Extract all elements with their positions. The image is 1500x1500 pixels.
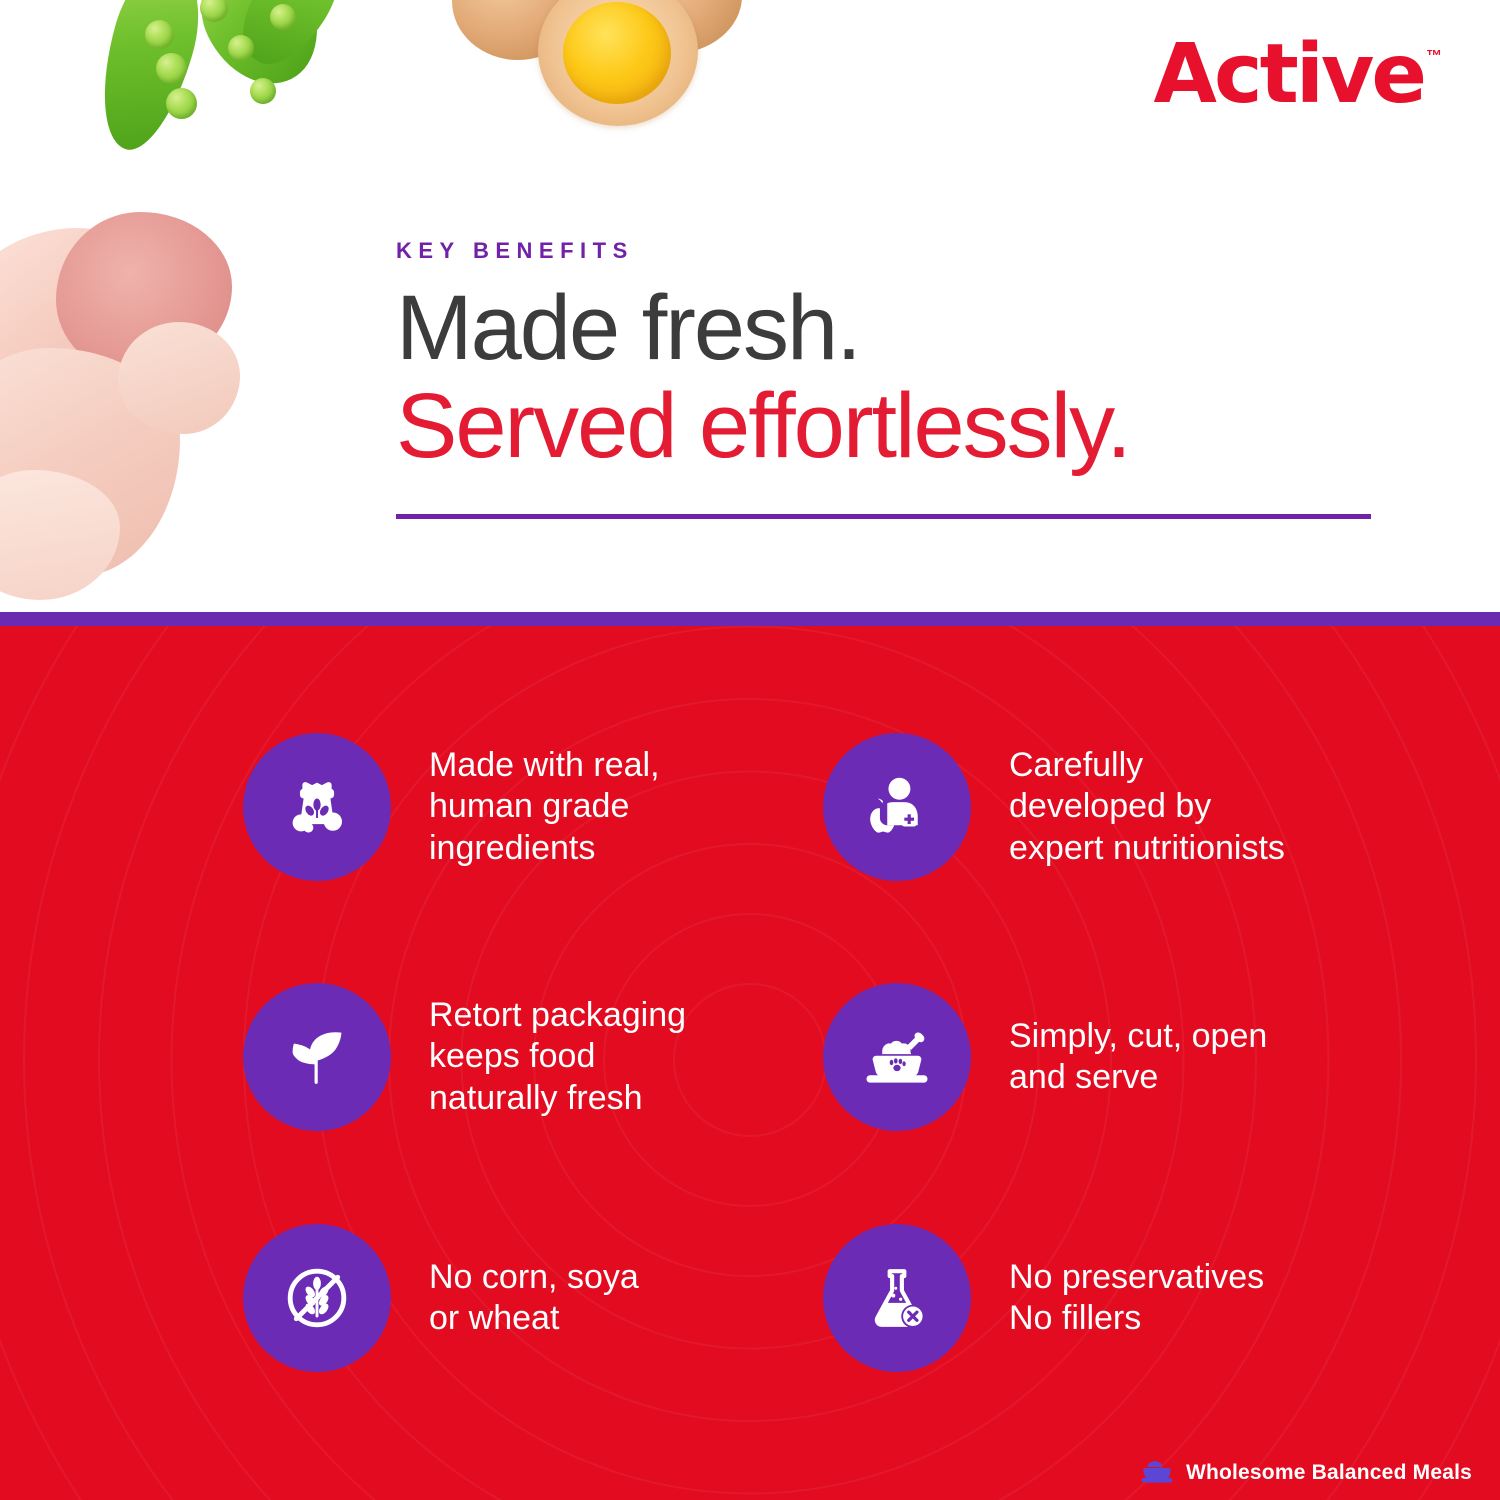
ingredient-sack-icon xyxy=(243,733,391,881)
benefit-item-no-grains: No corn, soya or wheat xyxy=(243,1224,639,1372)
dog-bowl-icon xyxy=(823,983,971,1131)
benefit-text: Retort packaging keeps food naturally fr… xyxy=(429,995,686,1119)
benefit-item-cut-open-serve: Simply, cut, open and serve xyxy=(823,983,1267,1131)
benefit-text: No preservatives No fillers xyxy=(1009,1257,1264,1340)
benefit-text: Simply, cut, open and serve xyxy=(1009,1016,1267,1099)
pet-bowl-icon xyxy=(1140,1460,1174,1486)
benefit-item-no-preservatives: No preservatives No fillers xyxy=(823,1224,1264,1372)
benefit-text: Carefully developed by expert nutritioni… xyxy=(1009,745,1285,869)
no-chemicals-flask-icon xyxy=(823,1224,971,1372)
benefit-text: Made with real, human grade ingredients xyxy=(429,745,660,869)
benefit-text: No corn, soya or wheat xyxy=(429,1257,639,1340)
benefit-item-retort-packaging: Retort packaging keeps food naturally fr… xyxy=(243,983,686,1131)
grain-free-icon xyxy=(243,1224,391,1372)
benefit-item-nutritionists: Carefully developed by expert nutritioni… xyxy=(823,733,1285,881)
benefit-item-ingredients: Made with real, human grade ingredients xyxy=(243,733,660,881)
benefits-grid: Made with real, human grade ingredients … xyxy=(0,0,1500,1500)
nutritionist-icon xyxy=(823,733,971,881)
footer-tagline: Wholesome Balanced Meals xyxy=(1140,1460,1472,1486)
poster-canvas: Active ™ KEY BENEFITS Made fresh. Served… xyxy=(0,0,1500,1500)
leaf-sprout-icon xyxy=(243,983,391,1131)
footer-text: Wholesome Balanced Meals xyxy=(1186,1461,1472,1485)
